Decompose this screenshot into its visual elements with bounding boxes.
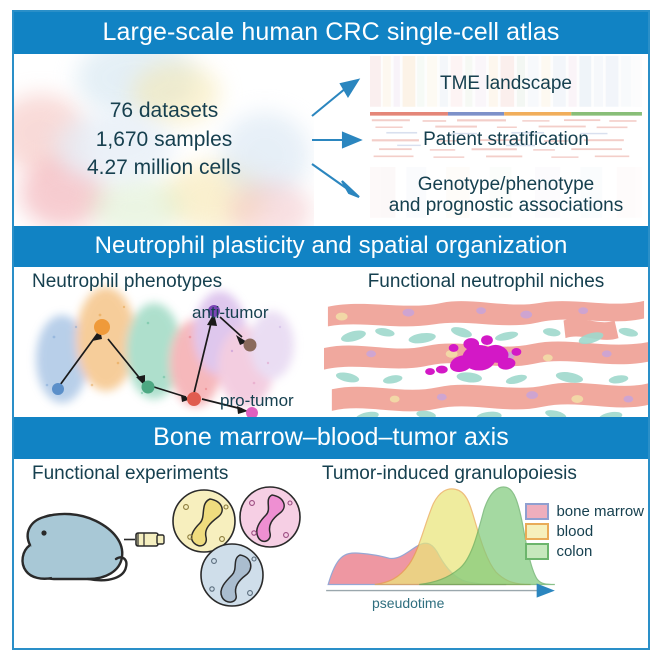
legend-label-colon: colon <box>556 544 592 559</box>
legend-swatch-bone-marrow <box>525 503 549 520</box>
legend-item-bone-marrow[interactable]: bone marrow <box>525 503 644 520</box>
neutrophil-cell-yellow-icon <box>173 490 235 552</box>
section-atlas-body: 76 datasets 1,670 samples 4.27 million c… <box>14 54 648 226</box>
arrow-down-right-head-icon <box>342 181 359 197</box>
panel-granulopoiesis[interactable]: Tumor-induced granulopoiesis <box>314 459 648 617</box>
panel-label-genotype-line1: Genotype/phenotype and prognostic associ… <box>389 174 623 217</box>
legend-swatch-blood <box>525 523 549 540</box>
atlas-stats-panel: 76 datasets 1,670 samples 4.27 million c… <box>14 54 314 226</box>
arrows-svg <box>310 54 374 226</box>
stat-cells: 4.27 million cells <box>87 154 241 183</box>
stat-datasets: 76 datasets <box>87 97 241 126</box>
legend-swatch-colon <box>525 543 549 560</box>
panel-functional-experiments[interactable]: Functional experiments <box>14 459 314 617</box>
legend-label-blood: blood <box>556 524 593 539</box>
arrow-down-right-icon <box>312 164 346 188</box>
section-axis-body: Functional experiments <box>14 459 648 617</box>
panel-label-tme: TME landscape <box>440 73 572 95</box>
atlas-arrows-group <box>314 54 370 226</box>
subtitle-granulopoiesis: Tumor-induced granulopoiesis <box>314 459 648 483</box>
granulopoiesis-legend: bone marrow blood colon <box>525 503 644 563</box>
panel-tme-landscape[interactable]: TME landscape <box>370 56 642 112</box>
umap-label-pro-tumor: pro-tumor <box>220 391 294 411</box>
panel-genotype-phenotype[interactable]: Genotype/phenotype and prognostic associ… <box>370 167 642 223</box>
atlas-panels-column: TME landscape <box>370 54 648 226</box>
subtitle-functional-experiments: Functional experiments <box>14 459 314 483</box>
spatial-tissue-map-icon <box>324 293 648 417</box>
section-neutrophil-body: Neutrophil phenotypes <box>14 267 648 417</box>
subtitle-neutrophil-niches: Functional neutrophil niches <box>324 267 648 291</box>
mouse-icon <box>23 514 127 580</box>
subtitle-neutrophil-phenotypes: Neutrophil phenotypes <box>14 267 324 291</box>
legend-item-blood[interactable]: blood <box>525 523 644 540</box>
arrow-up-right-icon <box>312 88 346 116</box>
axis-label-pseudotime: pseudotime <box>372 595 444 611</box>
panel-neutrophil-niches[interactable]: Functional neutrophil niches <box>324 267 648 417</box>
panel-label-genotype: Genotype/phenotype and prognostic associ… <box>389 174 623 217</box>
atlas-stats-list: 76 datasets 1,670 samples 4.27 million c… <box>87 97 241 184</box>
abstract-frame: Large-scale human CRC single-cell atlas <box>12 10 650 650</box>
panel-neutrophil-phenotypes[interactable]: Neutrophil phenotypes <box>14 267 324 417</box>
arrow-right-head-icon <box>343 133 360 147</box>
graphical-abstract: Large-scale human CRC single-cell atlas <box>0 0 662 662</box>
umap-label-anti-tumor: anti-tumor <box>192 303 269 323</box>
section-banner-atlas: Large-scale human CRC single-cell atlas <box>14 12 648 54</box>
legend-item-colon[interactable]: colon <box>525 543 644 560</box>
section-banner-neutrophil: Neutrophil plasticity and spatial organi… <box>14 226 648 267</box>
panel-patient-stratification[interactable]: Patient stratification <box>370 112 642 168</box>
section-banner-axis: Bone marrow–blood–tumor axis <box>14 417 648 459</box>
panel-label-stratification: Patient stratification <box>423 129 589 151</box>
legend-label-bone-marrow: bone marrow <box>556 504 644 519</box>
neutrophil-cell-blue-icon <box>201 544 263 606</box>
stat-samples: 1,670 samples <box>87 126 241 155</box>
arrow-up-right-head-icon <box>341 80 358 96</box>
syringe-icon <box>124 533 164 546</box>
neutrophil-cell-pink-icon <box>240 487 300 547</box>
